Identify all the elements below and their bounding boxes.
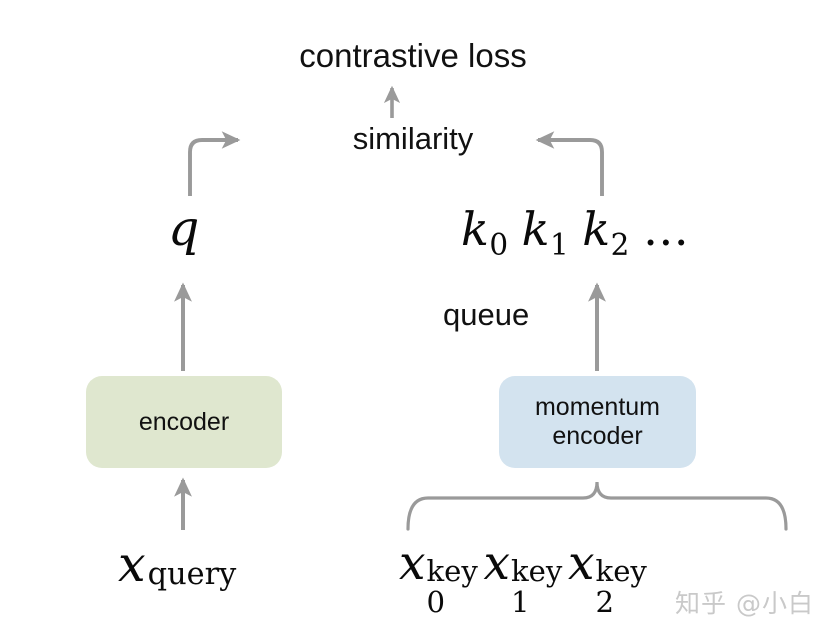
key-embedding-1: k1 bbox=[522, 202, 570, 256]
key-embeddings-label: k0k1k2… bbox=[461, 206, 691, 252]
queue-label: queue bbox=[443, 299, 529, 330]
encoder-box[interactable]: encoder bbox=[86, 376, 282, 468]
key-input-2: xkey2 bbox=[568, 540, 653, 587]
key-embeddings-ellipsis: … bbox=[643, 202, 691, 256]
key-input-1: xkey1 bbox=[484, 540, 569, 587]
query-embedding-label: q bbox=[168, 204, 199, 253]
moco-diagram: contrastive loss similarity q k0k1k2… qu… bbox=[0, 0, 826, 634]
key-input-0: xkey0 bbox=[399, 540, 484, 587]
momentum-encoder-box[interactable]: momentumencoder bbox=[499, 376, 696, 468]
key-inputs-label: xkey0xkey1xkey2 bbox=[399, 540, 653, 587]
watermark: 知乎 @小白 bbox=[675, 584, 814, 620]
query-input-symbol: xquery bbox=[118, 540, 146, 589]
similarity-label: similarity bbox=[0, 123, 826, 154]
encoder-box-label: encoder bbox=[139, 408, 229, 437]
key-embedding-2: k2 bbox=[582, 202, 630, 256]
key-inputs-brace bbox=[408, 482, 786, 529]
query-input-label: xquery bbox=[118, 540, 146, 589]
contrastive-loss-label: contrastive loss bbox=[0, 39, 826, 72]
momentum-encoder-box-label: momentumencoder bbox=[535, 393, 660, 451]
key-embedding-0: k0 bbox=[461, 202, 509, 256]
